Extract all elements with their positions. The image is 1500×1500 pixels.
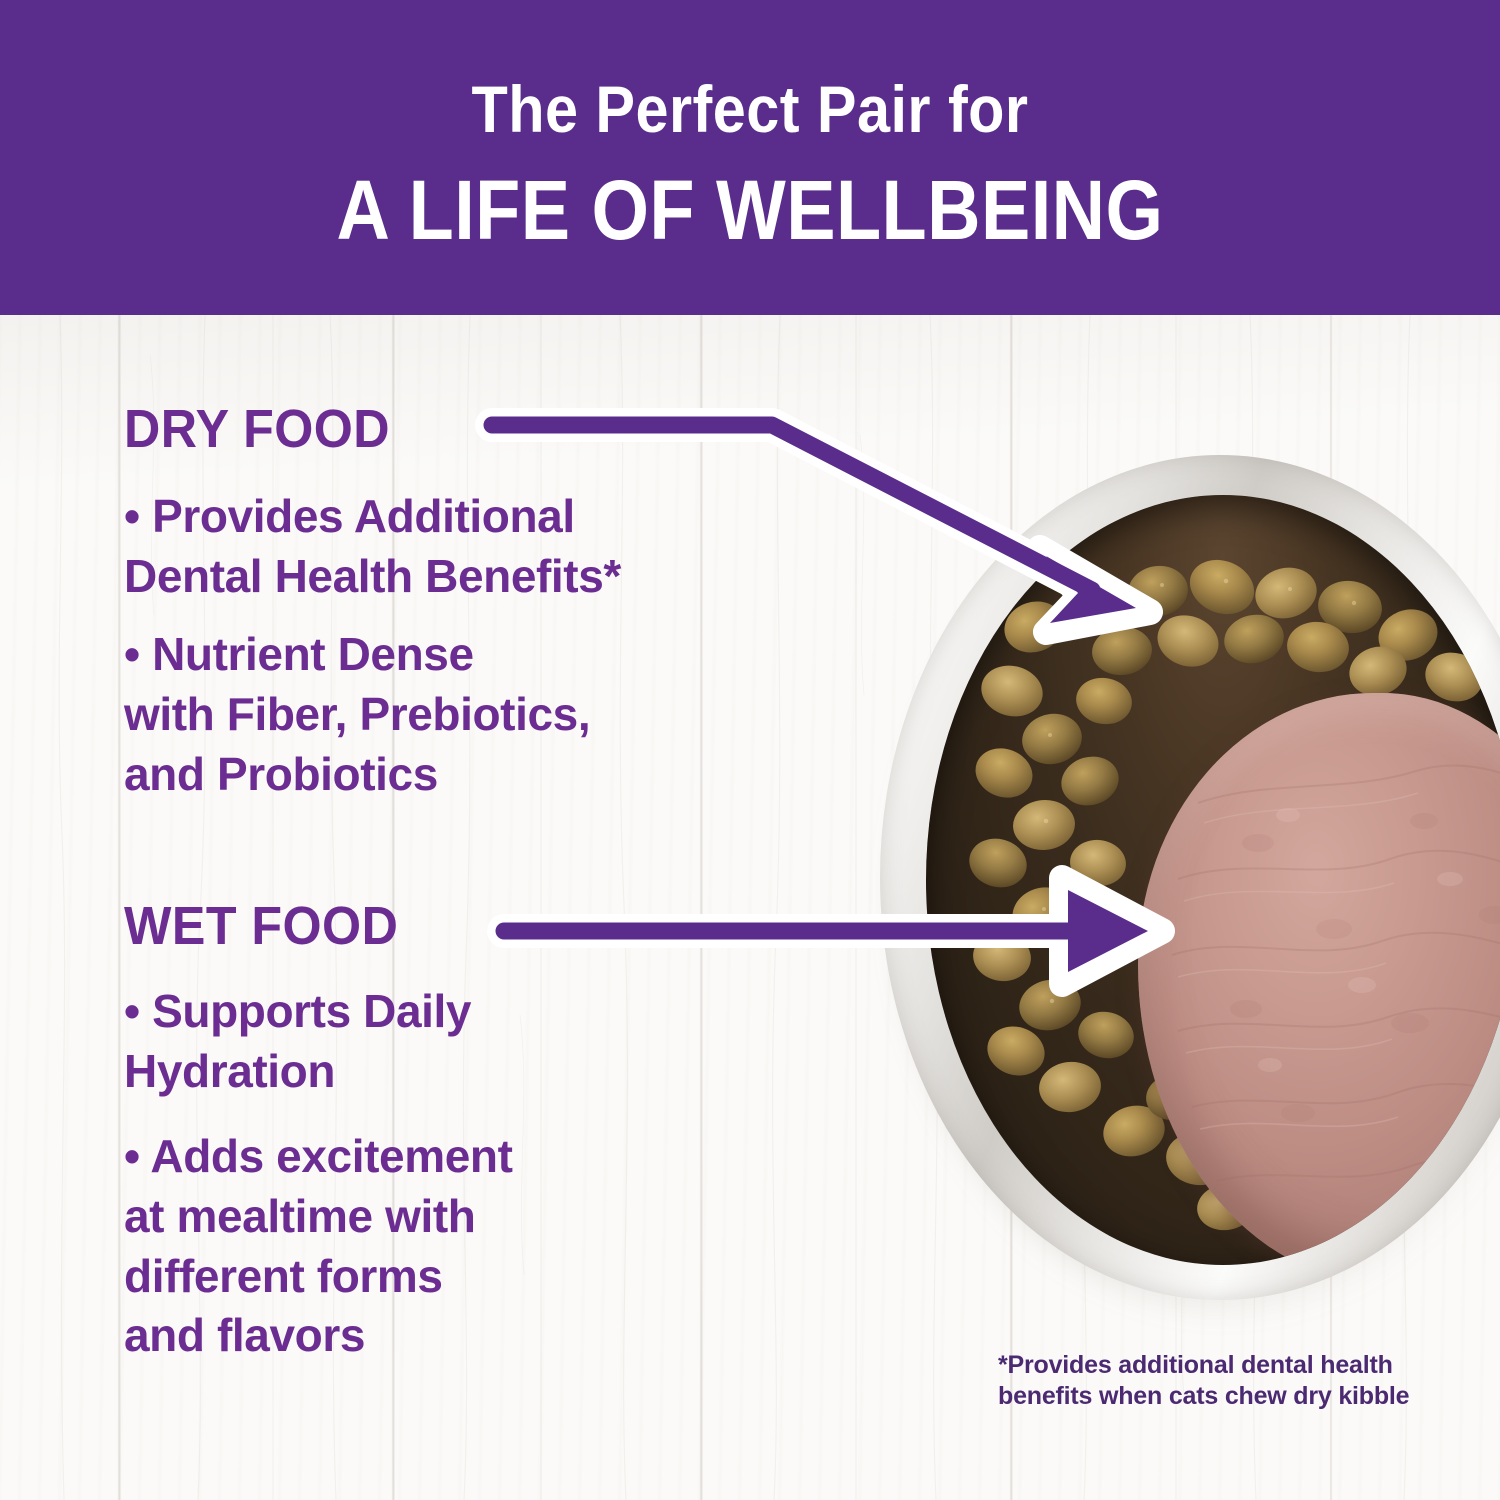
infographic-canvas: The Perfect Pair for A LIFE OF WELLBEING… (0, 0, 1500, 1500)
bullet-dry-food-2: • Nutrient Densewith Fiber, Prebiotics,a… (124, 625, 824, 804)
title-line-1: The Perfect Pair for (75, 76, 1425, 142)
section-heading-wet-food: WET FOOD (124, 895, 398, 957)
content-area: DRY FOOD • Provides AdditionalDental Hea… (0, 315, 1500, 1500)
bullet-wet-food-1: • Supports DailyHydration (124, 982, 744, 1102)
section-heading-dry-food: DRY FOOD (124, 398, 390, 460)
header-text-group: The Perfect Pair for A LIFE OF WELLBEING (0, 0, 1500, 252)
bullet-wet-food-2: • Adds excitementat mealtime withdiffere… (124, 1127, 744, 1366)
footnote-dental-disclaimer: *Provides additional dental health benef… (998, 1350, 1428, 1413)
bullet-dry-food-1: • Provides AdditionalDental Health Benef… (124, 487, 824, 607)
header-band: The Perfect Pair for A LIFE OF WELLBEING (0, 0, 1500, 315)
title-line-2: A LIFE OF WELLBEING (90, 168, 1410, 252)
